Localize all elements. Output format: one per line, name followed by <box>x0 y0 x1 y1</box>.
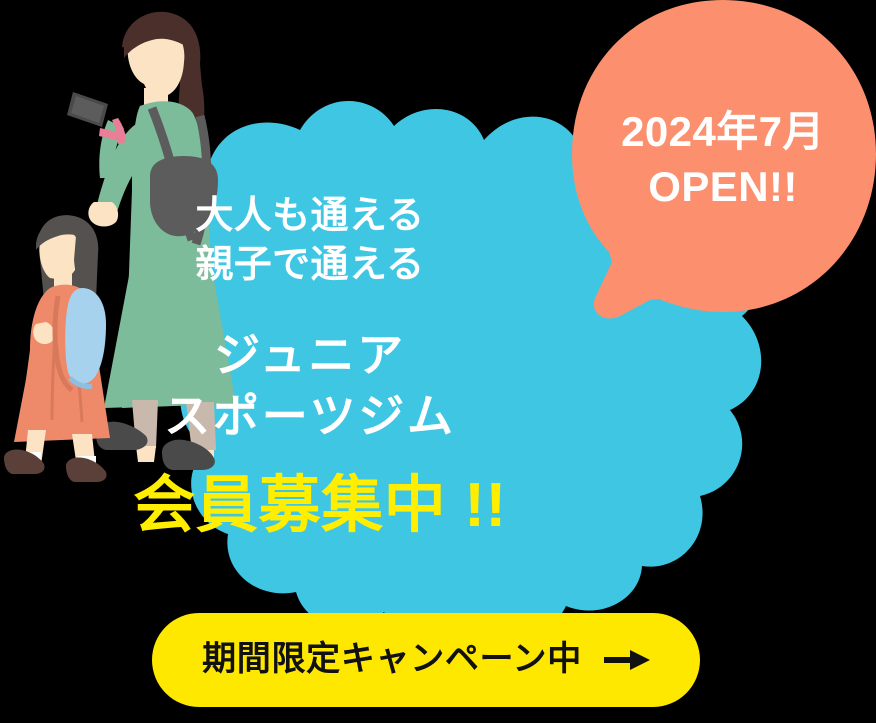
banner-canvas: 大人も通える 親子で通える ジュニア スポーツジム 会員募集中 !! 2024年… <box>0 0 876 723</box>
arrow-right-icon <box>604 647 650 673</box>
campaign-cta-button[interactable]: 期間限定キャンペーン中 <box>152 613 700 707</box>
open-date-line-2: OPEN!! <box>578 163 868 212</box>
campaign-cta-label: 期間限定キャンペーン中 <box>202 640 582 679</box>
open-date-line-1: 2024年7月 <box>578 108 868 157</box>
